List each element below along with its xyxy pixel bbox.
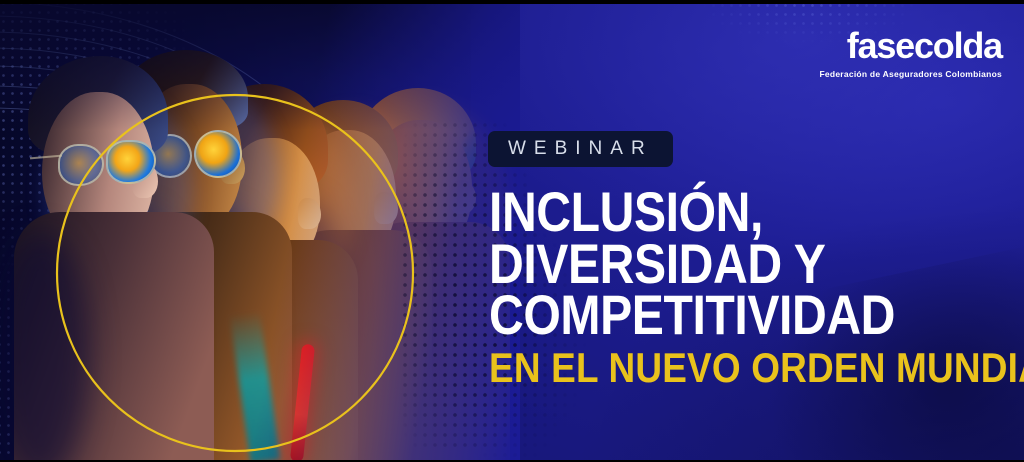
headline-block: INCLUSIÓN, DIVERSIDAD Y COMPETITIVIDAD E… [489, 186, 1024, 387]
logo-tagline: Federación de Aseguradores Colombianos [819, 69, 1002, 79]
logo-wordmark: fasecolda [819, 28, 1002, 64]
headline-subline: EN EL NUEVO ORDEN MUNDIAL [489, 349, 1024, 388]
letterbox-top-bar [0, 0, 1024, 4]
headline-line-1: INCLUSIÓN, [489, 186, 1024, 238]
yellow-arc-decoration [20, 58, 450, 462]
headline-line-3: COMPETITIVIDAD [489, 289, 1024, 341]
headline-line-2: DIVERSIDAD Y [489, 238, 1024, 290]
webinar-banner: WEBINAR INCLUSIÓN, DIVERSIDAD Y COMPETIT… [0, 0, 1024, 462]
fasecolda-logo: fasecolda Federación de Aseguradores Col… [819, 28, 1002, 79]
webinar-badge: WEBINAR [488, 131, 673, 167]
